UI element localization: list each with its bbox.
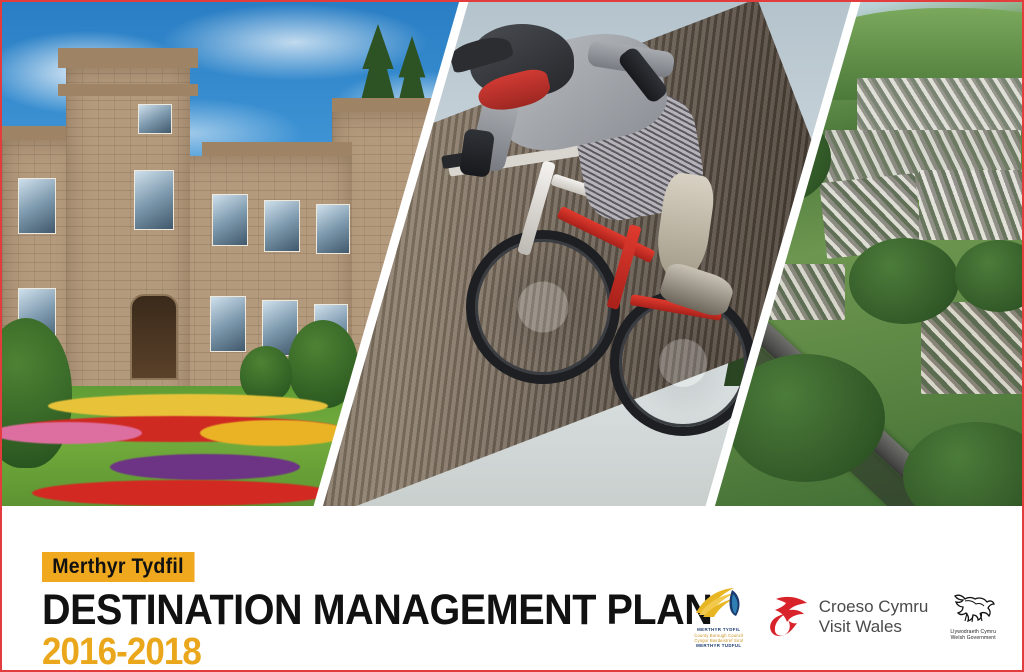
visit-wales-line-cy: Croeso Cymru [819,597,929,617]
welsh-dragon-icon [951,593,995,628]
cover-page: Merthyr Tydfil DESTINATION MANAGEMENT PL… [0,0,1024,672]
castle-window [316,204,350,254]
welsh-government-wordmark: Llywodraeth Cymru Welsh Government [950,629,996,642]
welsh-gov-line-en: Welsh Government [950,635,996,642]
merthyr-council-wordmark: MERTHYR TYDFIL County Borough Council Cy… [694,627,743,648]
castle-window [134,170,174,230]
visit-wales-dragon-icon [766,592,810,643]
castle-flowerbed-purple [110,454,300,480]
castle-flowerbed-yellow [48,394,328,418]
logo-welsh-government: Llywodraeth Cymru Welsh Government [950,593,996,642]
hero-photo-band [2,2,1024,506]
castle-window [210,296,246,352]
castle-window [264,200,300,252]
council-line-4: MERTHYR TUDFUL [694,643,743,649]
castle-window [18,178,56,234]
visit-wales-wordmark: Croeso Cymru Visit Wales [819,597,929,636]
rider-forearm-left [459,128,495,178]
castle-flowerbed-gold [200,420,350,446]
castle-window [138,104,172,134]
council-line-3: Cyngor Bwrdeistref Sirol [694,638,743,643]
castle-window [212,194,248,246]
title-years: 2016-2018 [42,633,712,671]
castle-entrance-door [130,294,178,380]
logo-merthyr-tydfil-council: MERTHYR TYDFIL County Borough Council Cy… [694,586,744,648]
council-line-2: County Borough Council [694,633,743,638]
castle-keep-band [58,84,198,96]
aerial-housing-cluster [919,170,1024,240]
castle-keep-crenellation [58,48,198,68]
bike-front-wheel [466,230,620,384]
cover-footer: Merthyr Tydfil DESTINATION MANAGEMENT PL… [2,506,1022,670]
merthyr-wing-mark-icon [694,586,744,625]
aerial-housing-cluster [857,78,1024,132]
aerial-housing-cluster [921,302,1024,394]
logo-visit-wales: Croeso Cymru Visit Wales [766,592,929,643]
castle-flowerbed-red-front [32,480,332,506]
castle-wall-crenellation [202,142,352,156]
logo-row: MERTHYR TYDFIL County Borough Council Cy… [694,586,996,648]
page-title: DESTINATION MANAGEMENT PLAN [42,589,712,631]
eyebrow-badge: Merthyr Tydfil [42,552,194,582]
aerial-woodland [849,238,959,324]
visit-wales-line-en: Visit Wales [819,617,929,637]
council-line-1: MERTHYR TYDFIL [694,627,743,633]
title-block: Merthyr Tydfil DESTINATION MANAGEMENT PL… [42,552,771,671]
castle-shrub-mid [240,346,292,402]
